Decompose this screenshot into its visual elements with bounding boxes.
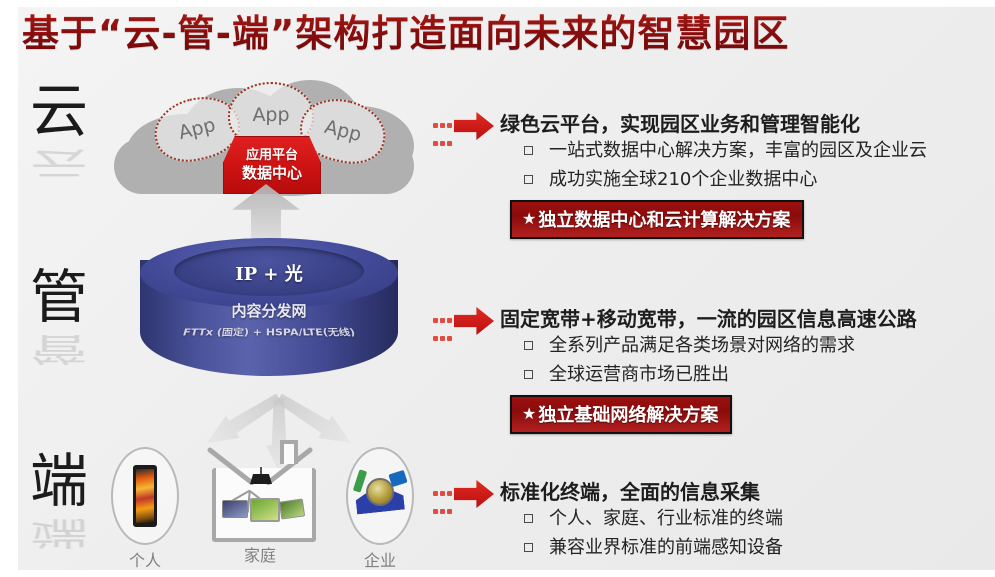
- access-point-icon: [250, 474, 272, 484]
- bullet-square-icon: [524, 543, 533, 552]
- network-cylinder-graphic: IP + 光 内容分发网 FTTx (固定) + HSPA/LTE(无线): [140, 238, 398, 398]
- arrow-dots-icon: [432, 116, 454, 152]
- list-item-text: 个人、家庭、行业标准的终端: [549, 506, 783, 532]
- bullet-square-icon: [524, 175, 533, 184]
- list-item-text: 一站式数据中心解决方案，丰富的园区及企业云: [549, 138, 927, 164]
- bullet-square-icon: [524, 370, 533, 379]
- block-bullet-list: 全系列产品满足各类场景对网络的需求 全球运营商市场已胜出: [524, 333, 855, 391]
- arrow-head-icon: [454, 307, 494, 335]
- house-chimney: [280, 440, 298, 464]
- device-label-home: 家庭: [205, 542, 315, 566]
- list-item-text: 兼容业界标准的前端感知设备: [549, 535, 783, 561]
- meter-dial: [366, 478, 394, 506]
- list-item: 个人、家庭、行业标准的终端: [524, 506, 783, 532]
- layer-label-terminal-text: 端: [30, 447, 88, 515]
- television-icon: [250, 498, 280, 522]
- highlight-badge-text: 独立数据中心和云计算解决方案: [538, 206, 790, 232]
- layer-label-pipe-text: 管: [30, 263, 88, 331]
- block-bullet-list: 一站式数据中心解决方案，丰富的园区及企业云 成功实施全球210个企业数据中心: [524, 138, 927, 196]
- red-arrow-icon: [432, 110, 494, 144]
- arrow-head-icon: [454, 112, 494, 140]
- block-heading: 绿色云平台，实现园区业务和管理智能化: [500, 108, 860, 137]
- phone-screen: [136, 469, 154, 523]
- bullet-square-icon: [524, 146, 533, 155]
- home-network-icon: [206, 440, 314, 540]
- device-label-personal: 个人: [90, 547, 200, 571]
- arrow-dots-icon: [432, 484, 454, 520]
- device-label-enterprise: 企业: [325, 547, 435, 571]
- data-center-box: 应用平台 数据中心: [223, 136, 321, 194]
- page-title: 基于“云-管-端”架构打造面向未来的智慧园区: [22, 8, 922, 60]
- layer-label-cloud: 云 云: [20, 82, 98, 192]
- list-item: 全系列产品满足各类场景对网络的需求: [524, 333, 855, 359]
- phone-body: [133, 465, 157, 527]
- layer-label-terminal-reflection: 端: [20, 517, 98, 549]
- data-center-box-line2: 数据中心: [242, 164, 302, 183]
- slide-canvas: 基于“云-管-端”架构打造面向未来的智慧园区 云 云 管 管 端 端 App A…: [0, 0, 995, 577]
- red-arrow-icon: [432, 478, 494, 512]
- cylinder-label-tertiary: FTTx (固定) + HSPA/LTE(无线): [137, 326, 401, 339]
- list-item: 兼容业界标准的前端感知设备: [524, 535, 783, 561]
- layer-label-terminal: 端 端: [20, 452, 98, 562]
- arrow-head-icon: [454, 480, 494, 508]
- device-home: 家庭: [205, 440, 315, 566]
- star-icon: ★: [522, 209, 536, 229]
- list-item: 一站式数据中心解决方案，丰富的园区及企业云: [524, 138, 927, 164]
- data-center-box-line1: 应用平台: [246, 148, 298, 164]
- layer-label-cloud-reflection: 云: [20, 147, 98, 179]
- device-enterprise: 企业: [325, 447, 435, 571]
- highlight-badge-text: 独立基础网络解决方案: [538, 401, 718, 427]
- cylinder-label-secondary: 内容分发网: [140, 300, 398, 321]
- list-item-text: 全系列产品满足各类场景对网络的需求: [549, 333, 855, 359]
- highlight-badge: ★ 独立数据中心和云计算解决方案: [510, 200, 804, 239]
- block-heading: 标准化终端，全面的信息采集: [500, 476, 760, 505]
- meter-graphic: [354, 470, 406, 522]
- list-item-text: 成功实施全球210个企业数据中心: [549, 167, 817, 193]
- star-icon: ★: [522, 404, 536, 424]
- smartphone-icon: [111, 447, 179, 545]
- block-bullet-list: 个人、家庭、行业标准的终端 兼容业界标准的前端感知设备: [524, 506, 783, 564]
- laptop-icon: [222, 500, 248, 518]
- cylinder-label-primary: IP + 光: [140, 260, 398, 286]
- highlight-badge: ★ 独立基础网络解决方案: [510, 395, 732, 434]
- red-arrow-icon: [432, 305, 494, 339]
- list-item-text: 全球运营商市场已胜出: [549, 362, 729, 388]
- utility-meter-icon: [346, 447, 414, 545]
- list-item: 成功实施全球210个企业数据中心: [524, 167, 927, 193]
- list-item: 全球运营商市场已胜出: [524, 362, 855, 388]
- bullet-square-icon: [524, 514, 533, 523]
- arrow-dots-icon: [432, 311, 454, 347]
- layer-label-pipe: 管 管: [20, 268, 98, 378]
- device-personal: 个人: [90, 447, 200, 571]
- layer-label-pipe-reflection: 管: [20, 333, 98, 365]
- layer-label-cloud-text: 云: [30, 77, 88, 145]
- block-heading: 固定宽带+移动宽带，一流的园区信息高速公路: [500, 303, 917, 332]
- meter-tag-green: [353, 469, 367, 492]
- bullet-square-icon: [524, 341, 533, 350]
- tablet-icon: [279, 498, 305, 519]
